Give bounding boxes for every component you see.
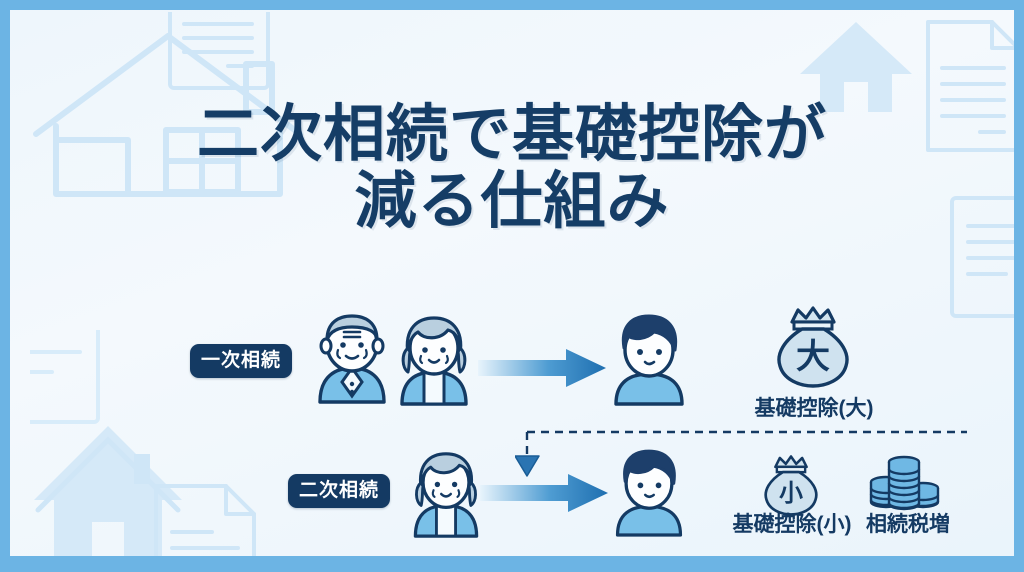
document-outline-top-left [166,12,276,102]
arrow-right-primary [478,347,608,394]
svg-text:小: 小 [779,479,803,507]
label-basic-deduction-large: 基礎控除(大) [716,392,912,422]
arrow-right-secondary [480,472,610,519]
document-outline-bottom-left [30,330,110,440]
figure-elderly-woman-secondary [402,448,490,545]
poster-panel: 二次相続で基礎控除が 減る仕組み 一次相続 [10,10,1014,556]
money-bag-large-icon: 大 [772,302,854,393]
document-outline-bottom-center [150,480,270,556]
page-title: 二次相続で基礎控除が 減る仕組み [10,102,1014,236]
figure-elderly-man [306,310,398,409]
figure-elderly-woman-primary [388,314,480,411]
label-basic-deduction-small: 基礎控除(小) [704,508,880,538]
figure-heir-primary [606,314,692,411]
badge-secondary-inheritance[interactable]: 二次相続 [288,474,390,508]
svg-text:大: 大 [796,337,830,377]
house-solid-bottom-left [28,418,188,556]
poster-frame: 二次相続で基礎控除が 減る仕組み 一次相続 [0,0,1024,572]
badge-primary-inheritance[interactable]: 一次相続 [190,344,292,378]
figure-heir-secondary [608,448,690,543]
label-inheritance-tax-increase: 相続税増 [856,508,960,538]
